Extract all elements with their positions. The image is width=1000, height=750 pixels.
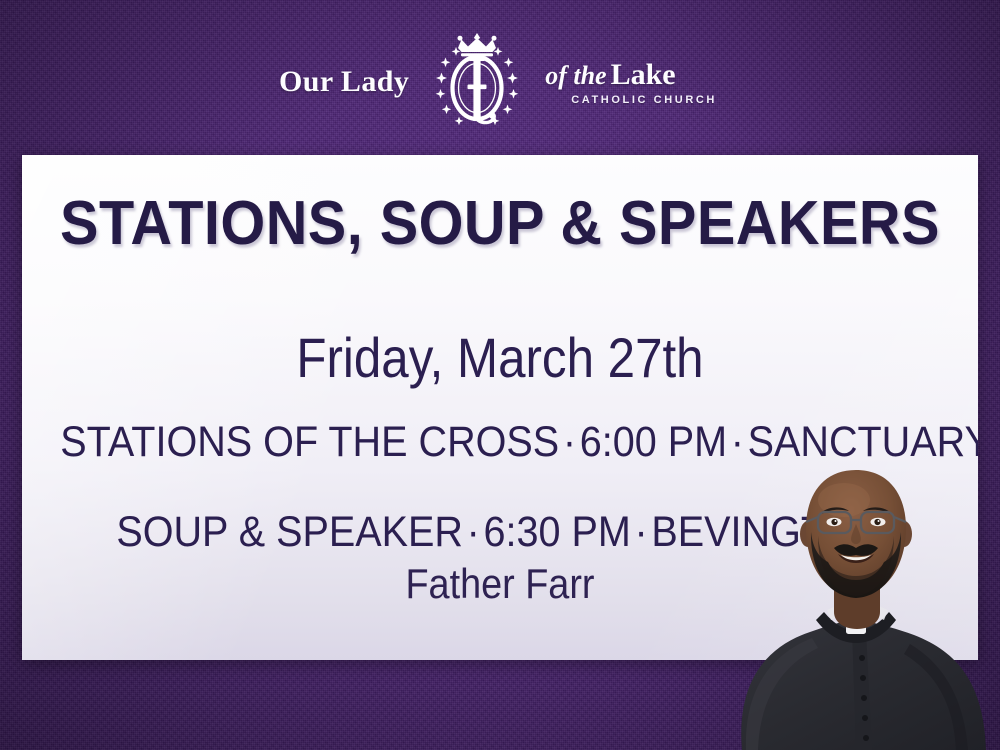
logo-name-right-italic: of the — [545, 61, 610, 90]
event-separator: · — [727, 418, 748, 466]
logo-name-right-upright: Lake — [611, 58, 676, 91]
event-time-soup: 6:30 PM — [484, 508, 631, 556]
event-separator: · — [559, 418, 580, 466]
headline: STATIONS, SOUP & SPEAKERS — [55, 193, 944, 255]
ol-monogram-icon — [411, 26, 543, 138]
logo-subtitle: CATHOLIC CHURCH — [545, 94, 717, 106]
event-row-soup: SOUP & SPEAKER·6:30 PM·BEVINGTON — [60, 511, 940, 554]
event-location-stations: SANCTUARY — [748, 418, 978, 466]
event-date: Friday, March 27th — [79, 330, 920, 386]
event-separator: · — [463, 508, 484, 556]
speaker-name: Father Farr — [70, 563, 930, 605]
logo-name-right: of theLake — [545, 60, 675, 91]
church-logo: Our Lady — [0, 26, 1000, 138]
event-separator: · — [631, 508, 652, 556]
event-title-stations: STATIONS OF THE CROSS — [60, 418, 559, 466]
event-title-soup: SOUP & SPEAKER — [116, 508, 463, 556]
flyer-slide: Our Lady — [0, 0, 1000, 750]
event-time-stations: 6:00 PM — [580, 418, 727, 466]
announcement-card: STATIONS, SOUP & SPEAKERS Friday, March … — [22, 155, 978, 660]
event-location-soup: BEVINGTON — [651, 508, 883, 556]
logo-name-left: Our Lady — [279, 65, 411, 99]
event-row-stations: STATIONS OF THE CROSS·6:00 PM·SANCTUARY — [60, 421, 940, 464]
